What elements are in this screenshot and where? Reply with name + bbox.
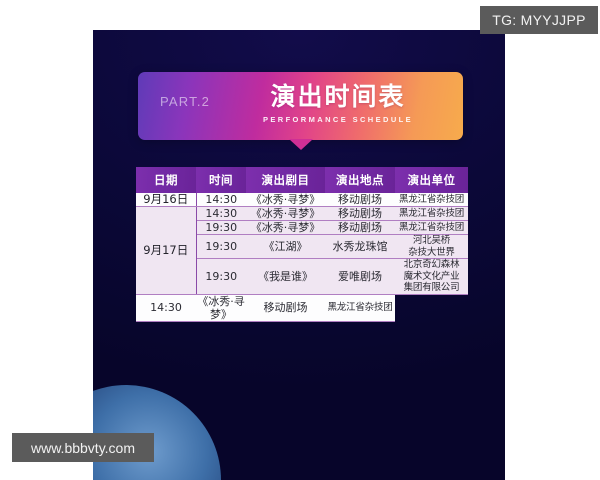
column-header-title: 演出剧目 <box>246 167 325 193</box>
watermark-website: www.bbbvty.com <box>12 433 154 462</box>
table-row: 9月17日14:30《冰秀·寻梦》移动剧场黑龙江省杂技团 <box>136 207 468 221</box>
table-body: 9月16日14:30《冰秀·寻梦》移动剧场黑龙江省杂技团9月17日14:30《冰… <box>136 193 468 321</box>
poster-panel: PART.2 演出时间表 PERFORMANCE SCHEDULE 日期 时间 … <box>93 30 505 480</box>
banner-title-chinese: 演出时间表 <box>238 82 438 112</box>
cell-time: 19:30 <box>196 259 246 295</box>
cell-title: 《冰秀·寻梦》 <box>246 207 325 221</box>
cell-venue: 水秀龙珠馆 <box>325 235 395 259</box>
cell-title: 《冰秀·寻梦》 <box>246 193 325 207</box>
cell-venue: 移动剧场 <box>246 294 325 321</box>
cell-venue: 爱唯剧场 <box>325 259 395 295</box>
table-row: 9月16日14:30《冰秀·寻梦》移动剧场黑龙江省杂技团 <box>136 193 468 207</box>
column-header-unit: 演出单位 <box>395 167 468 193</box>
cell-unit: 黑龙江省杂技团 <box>325 294 395 321</box>
cell-unit: 北京奇幻森林魔术文化产业集团有限公司 <box>395 259 468 295</box>
cell-time: 14:30 <box>196 207 246 221</box>
cell-unit: 黑龙江省杂技团 <box>395 221 468 235</box>
cell-time: 14:30 <box>136 294 196 321</box>
cell-venue: 移动剧场 <box>325 207 395 221</box>
column-header-venue: 演出地点 <box>325 167 395 193</box>
column-header-time: 时间 <box>196 167 246 193</box>
cell-title: 《江湖》 <box>246 235 325 259</box>
cell-time: 19:30 <box>196 235 246 259</box>
cell-date: 9月17日 <box>136 207 196 295</box>
cell-time: 19:30 <box>196 221 246 235</box>
cell-unit: 河北吴桥杂技大世界 <box>395 235 468 259</box>
table-row: 14:30《冰秀·寻梦》移动剧场黑龙江省杂技团 <box>136 294 468 321</box>
column-header-date: 日期 <box>136 167 196 193</box>
cell-unit: 黑龙江省杂技团 <box>395 193 468 207</box>
cell-title: 《冰秀·寻梦》 <box>246 221 325 235</box>
watermark-telegram: TG: MYYJJPP <box>480 6 598 34</box>
banner-title-group: 演出时间表 PERFORMANCE SCHEDULE <box>238 82 438 124</box>
cell-venue: 移动剧场 <box>325 193 395 207</box>
cell-title: 《冰秀·寻梦》 <box>196 294 246 321</box>
cell-unit: 黑龙江省杂技团 <box>395 207 468 221</box>
banner-arrow-notch <box>289 139 313 150</box>
table-header-row: 日期 时间 演出剧目 演出地点 演出单位 <box>136 167 468 193</box>
cell-venue: 移动剧场 <box>325 221 395 235</box>
part-label: PART.2 <box>160 94 210 109</box>
cell-title: 《我是谁》 <box>246 259 325 295</box>
cell-time: 14:30 <box>196 193 246 207</box>
performance-schedule-table: 日期 时间 演出剧目 演出地点 演出单位 9月16日14:30《冰秀·寻梦》移动… <box>136 167 468 322</box>
cell-date: 9月16日 <box>136 193 196 207</box>
banner-title-english: PERFORMANCE SCHEDULE <box>238 115 438 124</box>
section-banner: PART.2 演出时间表 PERFORMANCE SCHEDULE <box>138 72 463 140</box>
banner-gradient: PART.2 演出时间表 PERFORMANCE SCHEDULE <box>138 72 463 140</box>
